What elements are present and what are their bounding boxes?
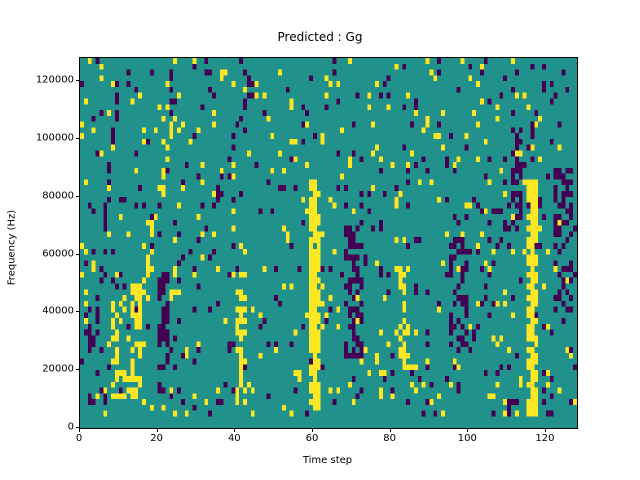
y-tick-mark xyxy=(76,196,80,197)
heatmap-image xyxy=(80,58,577,428)
y-tick-label: 20000 xyxy=(42,364,74,375)
x-tick-mark xyxy=(545,428,546,432)
y-tick-label: 100000 xyxy=(36,132,74,143)
x-tick-label: 100 xyxy=(458,433,477,444)
x-tick-label: 80 xyxy=(383,433,396,444)
y-axis-label: Frequency (Hz) xyxy=(7,148,18,348)
x-tick-label: 0 xyxy=(76,433,82,444)
x-tick-mark xyxy=(79,428,80,432)
x-tick-mark xyxy=(312,428,313,432)
y-tick-label: 120000 xyxy=(36,75,74,86)
x-tick-label: 40 xyxy=(228,433,241,444)
y-tick-label: 60000 xyxy=(42,248,74,259)
x-tick-mark xyxy=(234,428,235,432)
heatmap-axes xyxy=(79,57,578,429)
x-tick-mark xyxy=(157,428,158,432)
x-tick-label: 120 xyxy=(535,433,554,444)
y-tick-mark xyxy=(76,369,80,370)
x-tick-mark xyxy=(467,428,468,432)
x-tick-mark xyxy=(390,428,391,432)
y-tick-mark xyxy=(76,138,80,139)
x-tick-label: 20 xyxy=(150,433,163,444)
y-tick-mark xyxy=(76,254,80,255)
matplotlib-figure: Predicted : Gg 0200004000060000800001000… xyxy=(0,0,640,480)
x-axis-label: Time step xyxy=(79,455,576,466)
y-tick-label: 0 xyxy=(68,422,74,433)
y-tick-mark xyxy=(76,80,80,81)
y-tick-mark xyxy=(76,311,80,312)
y-tick-label: 40000 xyxy=(42,306,74,317)
chart-title: Predicted : Gg xyxy=(0,30,640,44)
x-tick-label: 60 xyxy=(306,433,319,444)
y-tick-label: 80000 xyxy=(42,190,74,201)
